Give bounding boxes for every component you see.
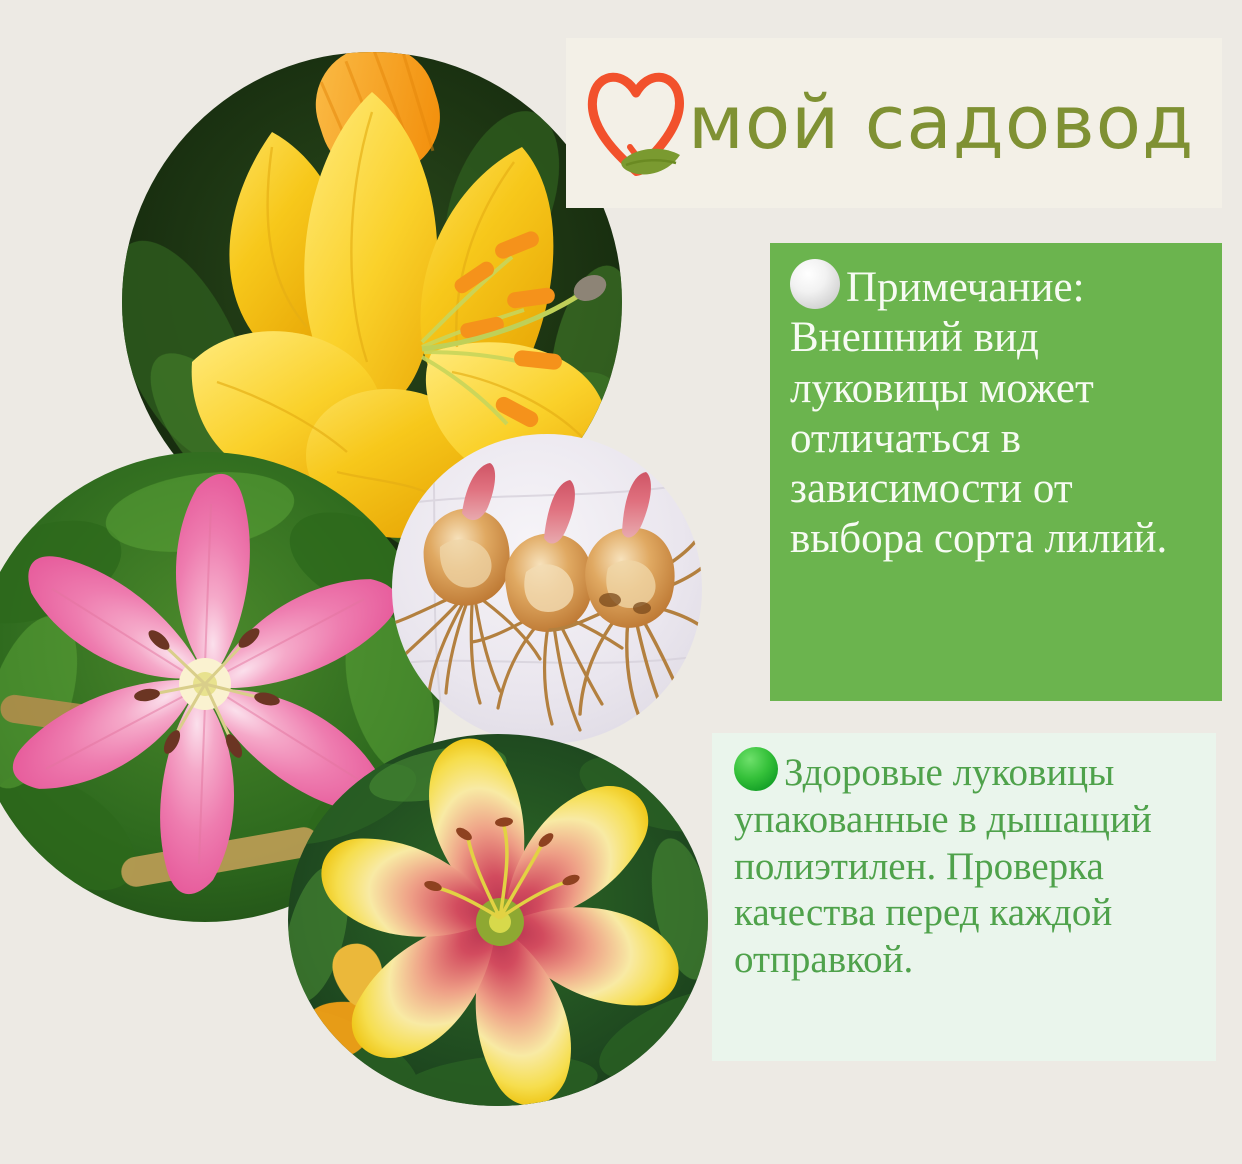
note-panel-text: Примечание: Внешний вид луковицы может о…: [790, 264, 1167, 562]
photo-lily-bulbs: [392, 434, 702, 744]
brand-logo[interactable]: мой садовод: [566, 38, 1222, 208]
healthy-panel-body: Здоровые луковицы упакованные в дышащий …: [734, 747, 1202, 984]
logo-mark: [580, 61, 692, 185]
logo-wordmark: мой садовод: [688, 86, 1194, 160]
healthy-panel-text: Здоровые луковицы упакованные в дышащий …: [734, 751, 1152, 981]
lily-bulbs-illustration: [392, 434, 702, 744]
photo-bicolor-lily: [288, 734, 708, 1106]
green-circle-bullet-icon: [734, 747, 778, 791]
note-panel-body: Примечание: Внешний вид луковицы может о…: [790, 259, 1208, 565]
infographic-canvas: мой садовод Примечание: Внешний вид луко…: [0, 0, 1242, 1164]
healthy-bulbs-panel: Здоровые луковицы упакованные в дышащий …: [712, 733, 1216, 1061]
bicolor-lily-illustration: [288, 734, 708, 1106]
white-circle-bullet-icon: [790, 259, 840, 309]
heart-leaf-logo-icon: [580, 61, 692, 185]
note-panel: Примечание: Внешний вид луковицы может о…: [770, 243, 1222, 701]
